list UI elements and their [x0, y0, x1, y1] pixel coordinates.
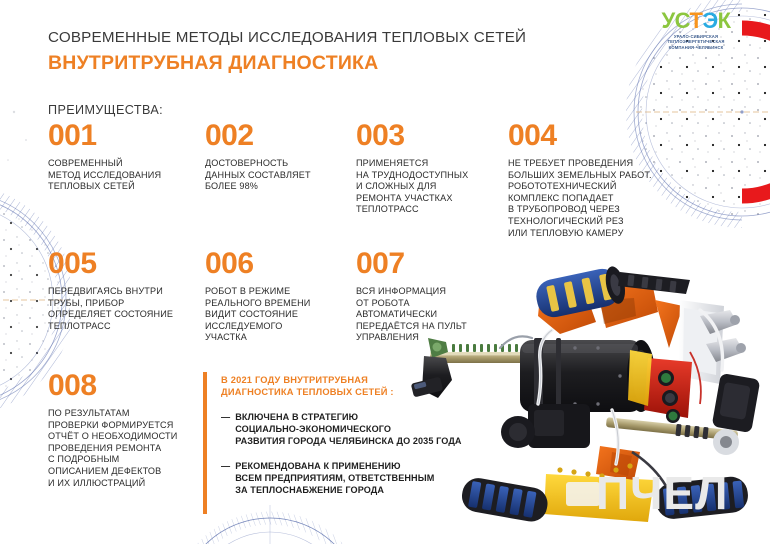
advantage-line: ОПИСАНИЕМ ДЕФЕКТОВ: [48, 466, 223, 478]
callout-line: ВСЕМ ПРЕДПРИЯТИЯМ, ОТВЕТСТВЕННЫМ: [235, 472, 434, 484]
advantage-line: БОЛЬШИХ ЗЕМЕЛЬНЫХ РАБОТ.: [508, 170, 688, 182]
advantage-number: 004: [508, 120, 688, 152]
advantage-line: СОВРЕМЕННЫЙ: [48, 158, 208, 170]
callout-bullet-1-text: ВКЛЮЧЕНА В СТРАТЕГИЮ СОЦИАЛЬНО-ЭКОНОМИЧЕ…: [235, 411, 461, 447]
advantage-text: ВСЯ ИНФОРМАЦИЯ ОТ РОБОТА АВТОМАТИЧЕСКИ П…: [356, 286, 526, 344]
page-title: ВНУТРИТРУБНАЯ ДИАГНОСТИКА: [48, 50, 526, 76]
advantage-text: НЕ ТРЕБУЕТ ПРОВЕДЕНИЯ БОЛЬШИХ ЗЕМЕЛЬНЫХ …: [508, 158, 688, 239]
logo-text-e: Э: [702, 8, 717, 33]
advantage-line: ДАННЫХ СОСТАВЛЯЕТ: [205, 170, 365, 182]
infographic-page: ПЧЕЛ СОВРЕМЕННЫЕ МЕТОДЫ ИССЛЕДОВАНИЯ ТЕП…: [0, 0, 770, 544]
callout-title-line: ДИАГНОСТИКА ТЕПЛОВЫХ СЕТЕЙ :: [221, 386, 491, 398]
advantage-line: ПЕРЕДАЁТСЯ НА ПУЛЬТ: [356, 321, 526, 333]
callout-line: РАЗВИТИЯ ГОРОДА ЧЕЛЯБИНСКА ДО 2035 ГОДА: [235, 435, 461, 447]
advantage-line: ТРУБЫ, ПРИБОР: [48, 298, 218, 310]
advantage-line: ТЕХНОЛОГИЧЕСКИЙ РЕЗ: [508, 216, 688, 228]
advantage-item-001: 001 СОВРЕМЕННЫЙ МЕТОД ИССЛЕДОВАНИЯ ТЕПЛО…: [48, 120, 208, 193]
advantages-label: ПРЕИМУЩЕСТВА:: [48, 103, 163, 117]
orange-divider-bar: [203, 372, 207, 514]
advantage-line: КОМПЛЕКС ПОПАДАЕТ: [508, 193, 688, 205]
callout-line: СОЦИАЛЬНО-ЭКОНОМИЧЕСКОГО: [235, 423, 461, 435]
advantage-number: 005: [48, 248, 218, 280]
callout-line: РЕКОМЕНДОВАНА К ПРИМЕНЕНИЮ: [235, 460, 434, 472]
advantage-line: БОЛЕЕ 98%: [205, 181, 365, 193]
advantage-line: В ТРУБОПРОВОД ЧЕРЕЗ: [508, 204, 688, 216]
advantage-item-004: 004 НЕ ТРЕБУЕТ ПРОВЕДЕНИЯ БОЛЬШИХ ЗЕМЕЛЬ…: [508, 120, 688, 239]
callout-bullet-2: — РЕКОМЕНДОВАНА К ПРИМЕНЕНИЮ ВСЕМ ПРЕДПР…: [221, 460, 491, 496]
advantage-line: ИЛИ ТЕПЛОВУЮ КАМЕРУ: [508, 228, 688, 240]
advantage-line: ТЕПЛОТРАСС: [48, 321, 218, 333]
page-title-subtitle: СОВРЕМЕННЫЕ МЕТОДЫ ИССЛЕДОВАНИЯ ТЕПЛОВЫХ…: [48, 28, 526, 48]
advantage-number: 003: [356, 120, 516, 152]
callout-title-line: В 2021 ГОДУ ВНУТРИТРУБНАЯ: [221, 374, 491, 386]
callout-2021: В 2021 ГОДУ ВНУТРИТРУБНАЯ ДИАГНОСТИКА ТЕ…: [221, 374, 491, 496]
ustek-logo: УСТЭК УРАЛО-СИБИРСКАЯ ТЕПЛОЭНЕРГЕТИЧЕСКА…: [636, 10, 756, 50]
advantage-number: 007: [356, 248, 526, 280]
advantage-line: МЕТОД ИССЛЕДОВАНИЯ: [48, 170, 208, 182]
advantage-number: 008: [48, 370, 223, 402]
callout-title: В 2021 ГОДУ ВНУТРИТРУБНАЯ ДИАГНОСТИКА ТЕ…: [221, 374, 491, 398]
dot-cluster: [7, 111, 27, 161]
advantage-line: ТЕПЛОТРАСС: [356, 204, 516, 216]
logo-text-t: Т: [689, 8, 702, 33]
advantage-line: ПРИМЕНЯЕТСЯ: [356, 158, 516, 170]
logo-text-k: К: [718, 8, 731, 33]
advantage-line: НА ТРУДНОДОСТУПНЫХ: [356, 170, 516, 182]
advantage-line: ИССЛЕДУЕМОГО: [205, 321, 365, 333]
advantage-line: ПО РЕЗУЛЬТАТАМ: [48, 408, 223, 420]
advantage-line: УПРАВЛЕНИЯ: [356, 332, 526, 344]
advantage-line: ОПРЕДЕЛЯЕТ СОСТОЯНИЕ: [48, 309, 218, 321]
advantage-line: ДОСТОВЕРНОСТЬ: [205, 158, 365, 170]
advantage-line: ПЕРЕДВИГАЯСЬ ВНУТРИ: [48, 286, 218, 298]
advantage-line: ОТЧЁТ О НЕОБХОДИМОСТИ: [48, 431, 223, 443]
advantage-line: ТЕПЛОВЫХ СЕТЕЙ: [48, 181, 208, 193]
logo-wordmark: УСТЭК: [636, 10, 756, 32]
advantage-line: АВТОМАТИЧЕСКИ: [356, 309, 526, 321]
callout-bullet-1: — ВКЛЮЧЕНА В СТРАТЕГИЮ СОЦИАЛЬНО-ЭКОНОМИ…: [221, 411, 491, 447]
advantage-line: С ПОДРОБНЫМ: [48, 454, 223, 466]
advantage-line: ОТ РОБОТА: [356, 298, 526, 310]
advantage-line: ВИДИТ СОСТОЯНИЕ: [205, 309, 365, 321]
advantage-number: 002: [205, 120, 365, 152]
advantage-line: И СЛОЖНЫХ ДЛЯ: [356, 181, 516, 193]
advantage-line: РЕАЛЬНОГО ВРЕМЕНИ: [205, 298, 365, 310]
logo-subtitle: УРАЛО-СИБИРСКАЯ ТЕПЛОЭНЕРГЕТИЧЕСКАЯ КОМП…: [636, 34, 756, 50]
advantage-item-005: 005 ПЕРЕДВИГАЯСЬ ВНУТРИ ТРУБЫ, ПРИБОР ОП…: [48, 248, 218, 332]
dash-icon: —: [221, 460, 230, 496]
dash-icon: —: [221, 411, 230, 447]
logo-text-us: УС: [661, 8, 689, 33]
advantage-line: УЧАСТКА: [205, 332, 365, 344]
advantage-line: ПРОВЕРКИ ФОРМИРУЕТСЯ: [48, 420, 223, 432]
advantage-line: РОБОТ В РЕЖИМЕ: [205, 286, 365, 298]
callout-bullet-2-text: РЕКОМЕНДОВАНА К ПРИМЕНЕНИЮ ВСЕМ ПРЕДПРИЯ…: [235, 460, 434, 496]
advantage-item-008: 008 ПО РЕЗУЛЬТАТАМ ПРОВЕРКИ ФОРМИРУЕТСЯ …: [48, 370, 223, 489]
advantage-line: РЕМОНТА УЧАСТКАХ: [356, 193, 516, 205]
advantage-line: И ИХ ИЛЛЮСТРАЦИЙ: [48, 478, 223, 490]
advantage-text: ПО РЕЗУЛЬТАТАМ ПРОВЕРКИ ФОРМИРУЕТСЯ ОТЧЁ…: [48, 408, 223, 489]
page-header: СОВРЕМЕННЫЕ МЕТОДЫ ИССЛЕДОВАНИЯ ТЕПЛОВЫХ…: [48, 28, 526, 76]
callout-line: ВКЛЮЧЕНА В СТРАТЕГИЮ: [235, 411, 461, 423]
advantage-item-007: 007 ВСЯ ИНФОРМАЦИЯ ОТ РОБОТА АВТОМАТИЧЕС…: [356, 248, 526, 344]
callout-line: ЗА ТЕПЛОСНАБЖЕНИЕ ГОРОДА: [235, 484, 434, 496]
watermark: ПЧЕЛ: [596, 470, 728, 516]
advantage-text: ПЕРЕДВИГАЯСЬ ВНУТРИ ТРУБЫ, ПРИБОР ОПРЕДЕ…: [48, 286, 218, 332]
advantage-text: РОБОТ В РЕЖИМЕ РЕАЛЬНОГО ВРЕМЕНИ ВИДИТ С…: [205, 286, 365, 344]
advantage-item-003: 003 ПРИМЕНЯЕТСЯ НА ТРУДНОДОСТУПНЫХ И СЛО…: [356, 120, 516, 216]
advantage-item-002: 002 ДОСТОВЕРНОСТЬ ДАННЫХ СОСТАВЛЯЕТ БОЛЕ…: [205, 120, 365, 193]
advantage-text: ПРИМЕНЯЕТСЯ НА ТРУДНОДОСТУПНЫХ И СЛОЖНЫХ…: [356, 158, 516, 216]
logo-subtitle-line3: КОМПАНИЯ-ЧЕЛЯБИНСК: [636, 45, 756, 50]
advantage-number: 001: [48, 120, 208, 152]
advantage-line: НЕ ТРЕБУЕТ ПРОВЕДЕНИЯ: [508, 158, 688, 170]
advantage-item-006: 006 РОБОТ В РЕЖИМЕ РЕАЛЬНОГО ВРЕМЕНИ ВИД…: [205, 248, 365, 344]
advantage-text: СОВРЕМЕННЫЙ МЕТОД ИССЛЕДОВАНИЯ ТЕПЛОВЫХ …: [48, 158, 208, 193]
advantage-text: ДОСТОВЕРНОСТЬ ДАННЫХ СОСТАВЛЯЕТ БОЛЕЕ 98…: [205, 158, 365, 193]
advantage-line: РОБОТОТЕХНИЧЕСКИЙ: [508, 181, 688, 193]
advantage-line: ПРОВЕДЕНИЯ РЕМОНТА: [48, 443, 223, 455]
advantage-line: ВСЯ ИНФОРМАЦИЯ: [356, 286, 526, 298]
advantage-number: 006: [205, 248, 365, 280]
